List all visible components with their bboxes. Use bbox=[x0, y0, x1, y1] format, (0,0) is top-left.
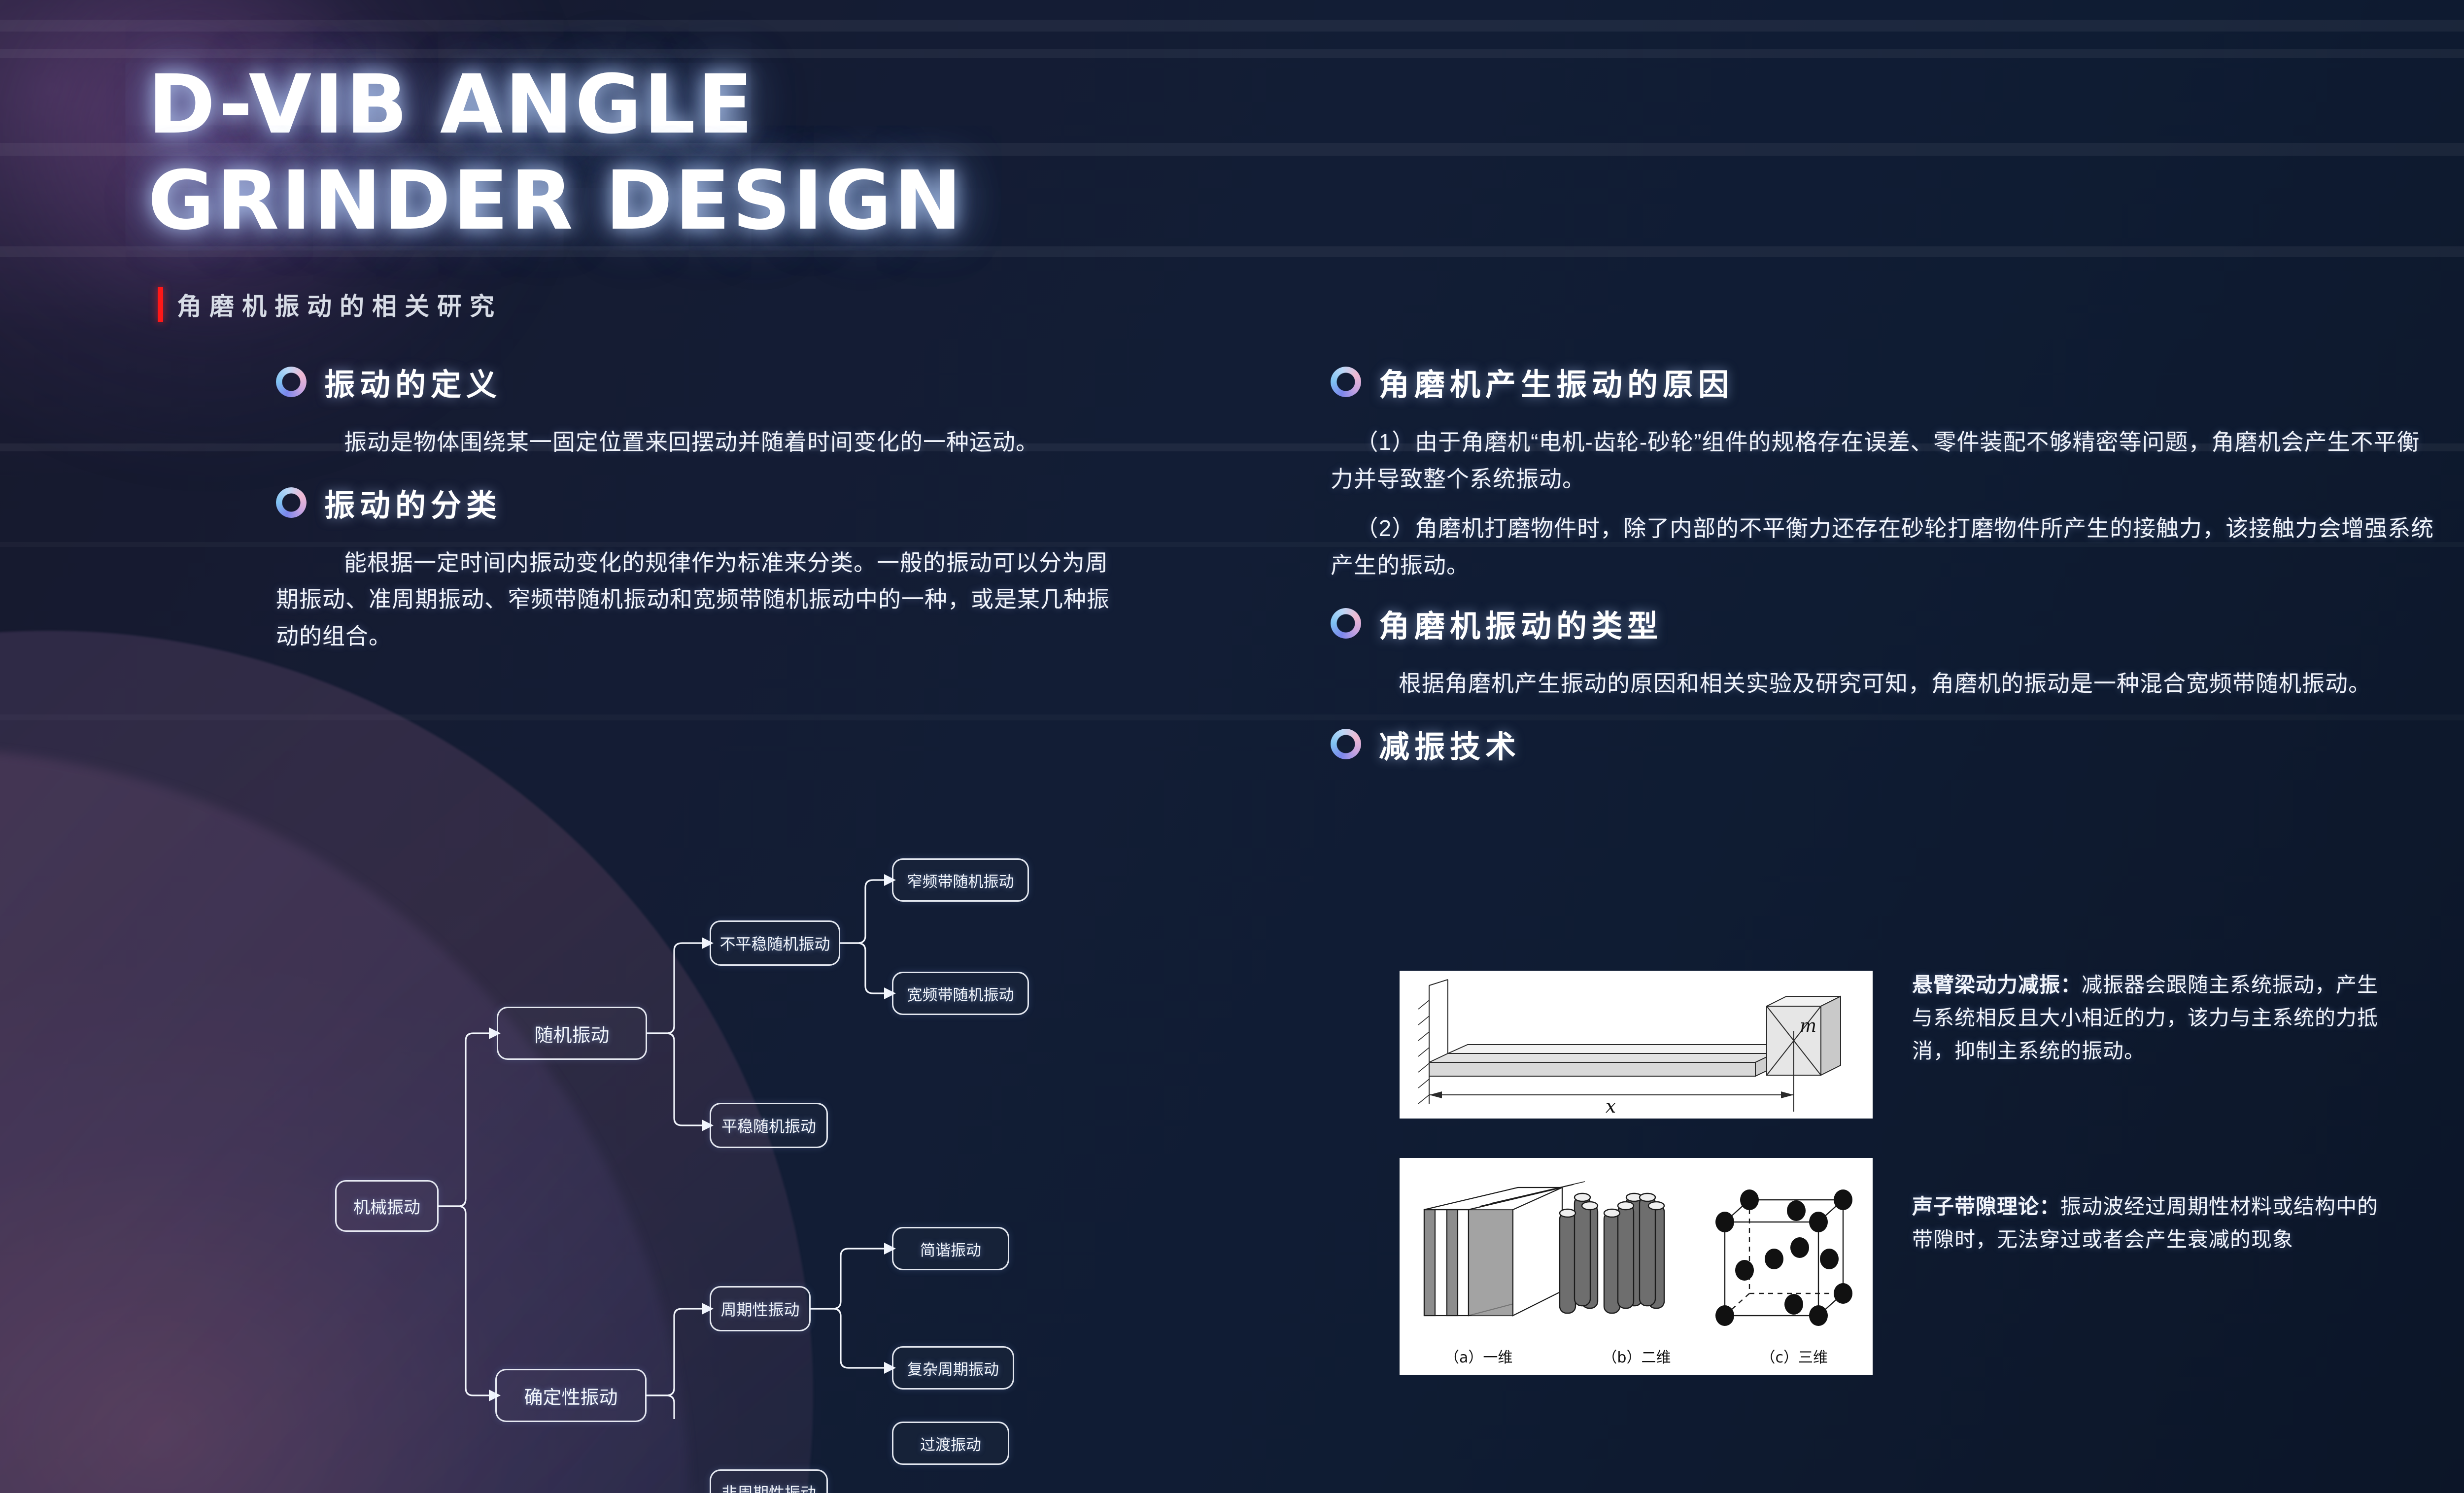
tree-node-nonsta: 不平稳随机振动 bbox=[710, 920, 840, 966]
ring-bullet-icon bbox=[276, 367, 307, 397]
tree-node-label: 周期性振动 bbox=[720, 1297, 799, 1320]
tree-node-rand: 随机振动 bbox=[497, 1007, 647, 1060]
tree-node-per: 周期性振动 bbox=[710, 1286, 811, 1331]
section-heading-row: 角磨机产生振动的原因 bbox=[1331, 360, 2439, 404]
tree-node-label: 宽频带随机振动 bbox=[907, 983, 1014, 1005]
subtitle-row: 角磨机振动的相关研究 bbox=[158, 287, 502, 322]
section-title: 振动的定义 bbox=[324, 360, 502, 404]
tree-node-label: 过渡振动 bbox=[920, 1432, 981, 1455]
tree-node-wide: 宽频带随机振动 bbox=[892, 972, 1029, 1015]
tree-node-label: 确定性振动 bbox=[524, 1382, 617, 1409]
section-damping-technology: 减振技术 bbox=[1331, 722, 2439, 766]
figure-cantilever-beam-damper: m x bbox=[1400, 971, 1873, 1119]
subtitle-text: 角磨机振动的相关研究 bbox=[177, 287, 502, 322]
tree-node-label: 窄频带随机振动 bbox=[907, 869, 1014, 891]
caption-separator: ： bbox=[2039, 1195, 2060, 1218]
tree-node-label: 随机振动 bbox=[534, 1020, 609, 1047]
section-heading-row: 振动的分类 bbox=[276, 480, 1114, 525]
paragraph: 能根据一定时间内振动变化的规律作为标准来分类。一般的振动可以分为周期振动、准周期… bbox=[276, 544, 1114, 655]
tree-node-narrow: 窄频带随机振动 bbox=[892, 858, 1029, 902]
ring-bullet-icon bbox=[1331, 608, 1361, 639]
vibration-classification-tree: 机械振动随机振动确定性振动不平稳随机振动平稳随机振动窄频带随机振动宽频带随机振动… bbox=[296, 838, 1133, 1419]
tree-node-trans: 过渡振动 bbox=[892, 1422, 1009, 1465]
mass-label: m bbox=[1800, 1016, 1816, 1036]
ring-bullet-icon bbox=[1331, 367, 1361, 397]
caption-title: 声子带隙理论 bbox=[1912, 1195, 2039, 1218]
paragraph: 根据角磨机产生振动的原因和相关实验及研究可知，角磨机的振动是一种混合宽频带随机振… bbox=[1331, 665, 2439, 702]
caption-phononic-bandgap: 声子带隙理论：振动波经过周期性材料或结构中的带隙时，无法穿过或者会产生衰减的现象 bbox=[1912, 1190, 2380, 1256]
subcaption-2d: （b）二维 bbox=[1602, 1345, 1671, 1367]
slide-root: D-VIB ANGLE GRINDER DESIGN 角磨机振动的相关研究 振动… bbox=[0, 0, 2464, 1493]
tree-node-det: 确定性振动 bbox=[495, 1369, 647, 1422]
tree-node-sta: 平稳随机振动 bbox=[710, 1103, 828, 1148]
tree-node-label: 不平稳随机振动 bbox=[719, 932, 830, 954]
section-heading-row: 振动的定义 bbox=[276, 360, 1114, 404]
cantilever-beam-drawing: m x bbox=[1400, 971, 1873, 1119]
figure-subcaptions: （a）一维 （b）二维 （c）三维 bbox=[1400, 1345, 1873, 1367]
caption-cantilever-damper: 悬臂梁动力减振：减振器会跟随主系统振动，产生与系统相反且大小相近的力，该力与主系… bbox=[1912, 968, 2380, 1068]
ring-bullet-icon bbox=[1331, 729, 1361, 759]
section-title: 减振技术 bbox=[1379, 722, 1521, 766]
tree-node-label: 复杂周期振动 bbox=[907, 1357, 999, 1379]
tree-node-label: 平稳随机振动 bbox=[721, 1114, 816, 1137]
subcaption-3d: （c）三维 bbox=[1760, 1345, 1828, 1367]
title-line-1: D-VIB ANGLE bbox=[148, 64, 964, 145]
section-vibration-classification: 振动的分类 能根据一定时间内振动变化的规律作为标准来分类。一般的振动可以分为周期… bbox=[276, 480, 1114, 655]
tree-node-label: 非周期性振动 bbox=[721, 1481, 816, 1493]
title-line-2: GRINDER DESIGN bbox=[148, 160, 964, 241]
paragraph: （2）角磨机打磨物件时，除了内部的不平衡力还存在砂轮打磨物件所产生的接触力，该接… bbox=[1331, 510, 2439, 583]
paragraph: （1）由于角磨机“电机-齿轮-砂轮”组件的规格存在误差、零件装配不够精密等问题，… bbox=[1331, 424, 2439, 497]
tree-node-label: 机械振动 bbox=[353, 1194, 420, 1218]
tree-node-root: 机械振动 bbox=[335, 1180, 439, 1232]
caption-separator: ： bbox=[2060, 973, 2082, 996]
paragraph: 振动是物体围绕某一固定位置来回摆动并随着时间变化的一种运动。 bbox=[276, 424, 1114, 461]
section-heading-row: 角磨机振动的类型 bbox=[1331, 601, 2439, 645]
phononic-crystal-drawing bbox=[1400, 1158, 1873, 1375]
tree-node-label: 简谐振动 bbox=[920, 1238, 981, 1260]
ring-bullet-icon bbox=[276, 487, 307, 518]
figure-phononic-crystal: （a）一维 （b）二维 （c）三维 bbox=[1400, 1158, 1873, 1375]
tree-node-cplx: 复杂周期振动 bbox=[892, 1346, 1014, 1390]
subcaption-1d: （a）一维 bbox=[1444, 1345, 1512, 1367]
page-title: D-VIB ANGLE GRINDER DESIGN bbox=[148, 64, 964, 241]
section-title: 角磨机产生振动的原因 bbox=[1379, 360, 1734, 404]
section-vibration-types: 角磨机振动的类型 根据角磨机产生振动的原因和相关实验及研究可知，角磨机的振动是一… bbox=[1331, 601, 2439, 702]
section-vibration-definition: 振动的定义 振动是物体围绕某一固定位置来回摆动并随着时间变化的一种运动。 bbox=[276, 360, 1114, 461]
section-title: 角磨机振动的类型 bbox=[1379, 601, 1663, 645]
tree-node-harm: 简谐振动 bbox=[892, 1227, 1009, 1270]
red-accent-bar bbox=[158, 287, 163, 322]
tree-node-nonper: 非周期性振动 bbox=[710, 1469, 828, 1493]
left-column: 振动的定义 振动是物体围绕某一固定位置来回摆动并随着时间变化的一种运动。 振动的… bbox=[276, 360, 1114, 667]
right-column: 角磨机产生振动的原因 （1）由于角磨机“电机-齿轮-砂轮”组件的规格存在误差、零… bbox=[1331, 360, 2439, 786]
section-vibration-causes: 角磨机产生振动的原因 （1）由于角磨机“电机-齿轮-砂轮”组件的规格存在误差、零… bbox=[1331, 360, 2439, 583]
section-heading-row: 减振技术 bbox=[1331, 722, 2439, 766]
section-title: 振动的分类 bbox=[324, 480, 502, 525]
caption-title: 悬臂梁动力减振 bbox=[1912, 973, 2060, 996]
length-label: x bbox=[1606, 1095, 1616, 1117]
